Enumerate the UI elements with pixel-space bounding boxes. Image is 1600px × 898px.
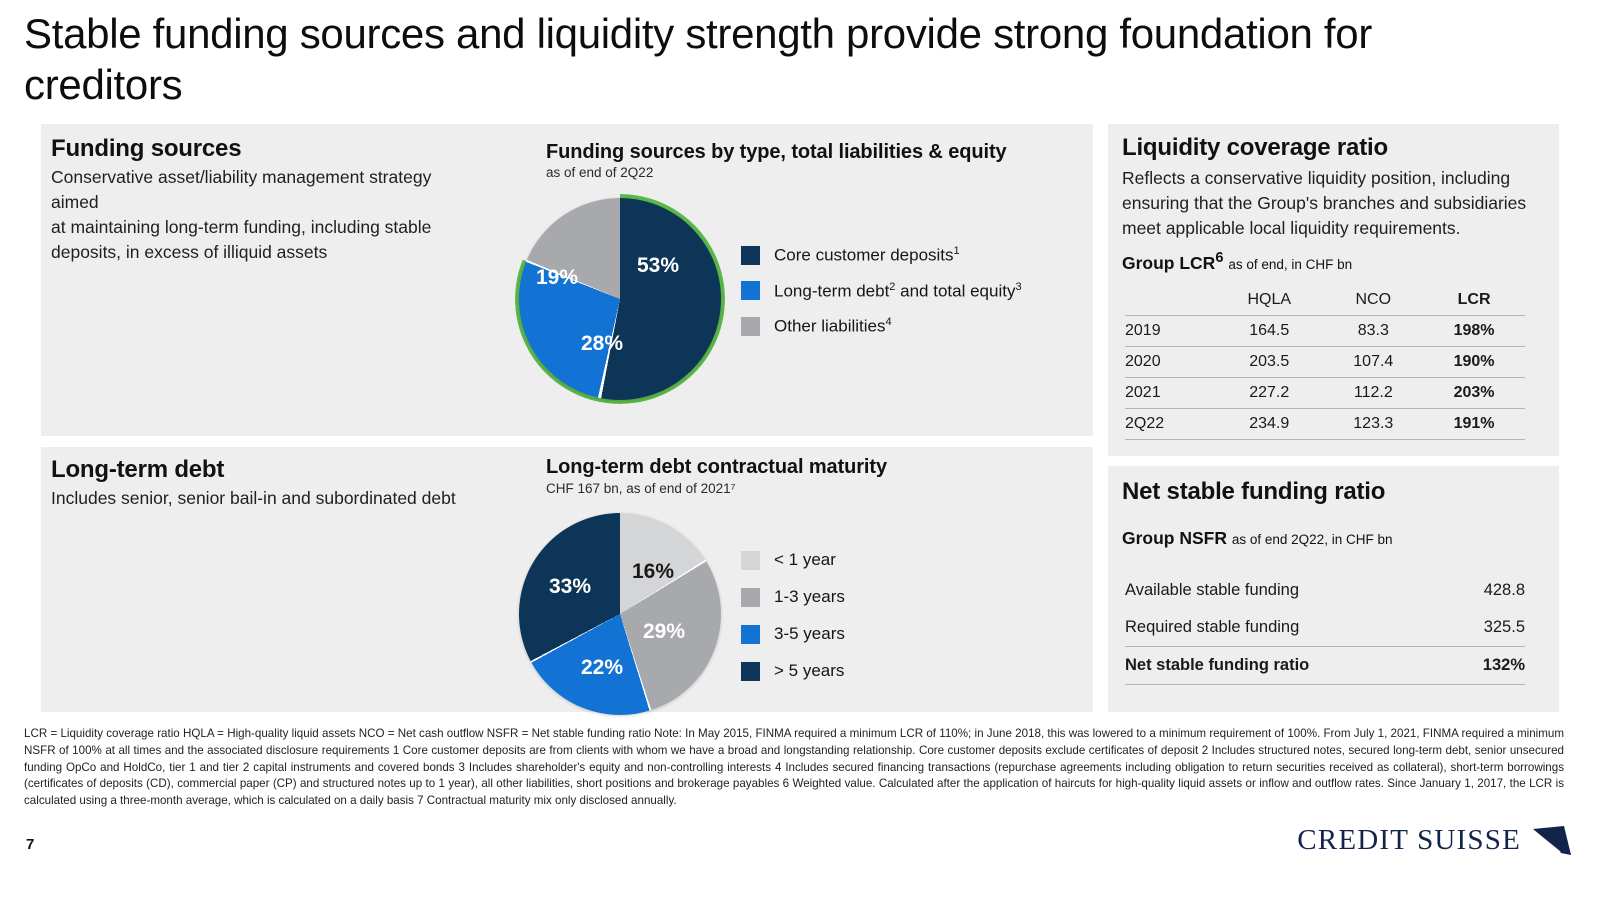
long-term-debt-maturity-pie-chart: 16% 29% 22% 33% [519,513,721,715]
cell-lcr: 203% [1423,378,1525,409]
slide: Stable funding sources and liquidity str… [0,0,1600,898]
legend-item: < 1 year [741,550,845,570]
maturity-chart-subtitle: CHF 167 bn, as of end of 2021⁷ [546,481,736,496]
legend-label-long-term-debt: Long-term debt2 and total equity3 [774,281,1022,302]
funding-chart-title: Funding sources by type, total liabiliti… [546,141,1007,164]
nsfr-value: 132% [1455,656,1525,675]
page-number: 7 [26,836,34,853]
nsfr-row-required: Required stable funding 325.5 [1125,609,1525,646]
cell-nco: 123.3 [1323,409,1423,440]
pie-slice-label-long-term-debt: 28% [581,332,623,356]
nsfr-value: 325.5 [1455,618,1525,637]
legend-item: 3-5 years [741,624,845,644]
cell-year: 2019 [1125,316,1215,347]
nsfr-value: 428.8 [1455,581,1525,600]
nsfr-label: Net stable funding ratio [1125,656,1309,675]
cell-nco: 83.3 [1323,316,1423,347]
legend-swatch-blue [741,625,760,644]
nsfr-caption: Group NSFR as of end 2Q22, in CHF bn [1122,528,1392,549]
cell-hqla: 164.5 [1215,316,1323,347]
long-term-debt-description: Includes senior, senior bail-in and subo… [51,486,471,511]
cell-lcr: 198% [1423,316,1525,347]
legend-item: Core customer deposits1 [741,245,1022,266]
lcr-caption-footnote-marker: 6 [1215,250,1223,266]
legend-label-other-liabilities: Other liabilities4 [774,316,892,337]
cell-lcr: 190% [1423,347,1525,378]
table-row: 2021 227.2 112.2 203% [1125,378,1525,409]
cell-year: 2Q22 [1125,409,1215,440]
nsfr-rows: Available stable funding 428.8 Required … [1125,572,1525,685]
lcr-caption-bold: Group LCR [1122,253,1215,273]
nsfr-label: Available stable funding [1125,581,1299,600]
funding-chart-legend: Core customer deposits1 Long-term debt2 … [741,245,1022,352]
pie-slice-label-under-1-year: 16% [632,560,674,584]
long-term-debt-heading: Long-term debt [51,456,224,484]
maturity-chart-legend: < 1 year 1-3 years 3-5 years > 5 years [741,550,845,698]
legend-swatch-blue [741,281,760,300]
nsfr-caption-light: as of end 2Q22, in CHF bn [1232,532,1393,547]
table-row: 2Q22 234.9 123.3 191% [1125,409,1525,440]
legend-item: Other liabilities4 [741,316,1022,337]
pie-slice-label-other-liabilities: 19% [536,266,578,290]
page-title: Stable funding sources and liquidity str… [24,8,1454,110]
maturity-chart-title: Long-term debt contractual maturity [546,456,887,479]
cell-year: 2021 [1125,378,1215,409]
funding-sources-heading: Funding sources [51,135,241,163]
lcr-caption-light: as of end, in CHF bn [1228,257,1352,272]
pie-slice-label-3-5-years: 22% [581,656,623,680]
legend-item: 1-3 years [741,587,845,607]
legend-label-over-5-years: > 5 years [774,661,844,681]
pie-slices [519,513,721,715]
cell-lcr: 191% [1423,409,1525,440]
col-header-lcr: LCR [1423,285,1525,316]
col-header-nco: NCO [1323,285,1423,316]
legend-swatch-navy [741,662,760,681]
lcr-table: HQLA NCO LCR 2019 164.5 83.3 198% 2020 2… [1125,285,1525,440]
logo-wordmark: CREDIT SUISSE [1297,824,1521,857]
nsfr-caption-bold: Group NSFR [1122,528,1227,548]
cell-hqla: 234.9 [1215,409,1323,440]
nsfr-label: Required stable funding [1125,618,1299,637]
legend-swatch-navy [741,246,760,265]
legend-swatch-gray [741,317,760,336]
legend-label-1-3-years: 1-3 years [774,587,845,607]
pie-slice-label-1-3-years: 29% [643,620,685,644]
cell-hqla: 227.2 [1215,378,1323,409]
sail-logo-icon [1530,825,1574,857]
nsfr-row-total: Net stable funding ratio 132% [1125,646,1525,685]
pie-slice-label-core-deposits: 53% [637,254,679,278]
lcr-heading: Liquidity coverage ratio [1122,134,1388,162]
funding-chart-subtitle: as of end of 2Q22 [546,165,653,180]
funding-sources-description: Conservative asset/liability management … [51,165,471,264]
footnotes: LCR = Liquidity coverage ratio HQLA = Hi… [24,726,1564,810]
table-row: 2020 203.5 107.4 190% [1125,347,1525,378]
legend-item: Long-term debt2 and total equity3 [741,281,1022,302]
legend-item: > 5 years [741,661,845,681]
cell-hqla: 203.5 [1215,347,1323,378]
col-header-hqla: HQLA [1215,285,1323,316]
lcr-table-caption: Group LCR6 as of end, in CHF bn [1122,250,1352,274]
legend-swatch-light-gray [741,551,760,570]
table-header-row: HQLA NCO LCR [1125,285,1525,316]
funding-sources-pie-chart: 53% 28% 19% [519,198,721,400]
legend-swatch-gray [741,588,760,607]
legend-label-core-deposits: Core customer deposits1 [774,245,960,266]
col-header-year [1125,285,1215,316]
nsfr-row-available: Available stable funding 428.8 [1125,572,1525,609]
pie-slices [519,198,721,400]
pie-slice-label-over-5-years: 33% [549,575,591,599]
cell-nco: 112.2 [1323,378,1423,409]
credit-suisse-logo: CREDIT SUISSE [1297,824,1574,857]
lcr-description: Reflects a conservative liquidity positi… [1122,166,1530,241]
legend-label-3-5-years: 3-5 years [774,624,845,644]
cell-nco: 107.4 [1323,347,1423,378]
table-row: 2019 164.5 83.3 198% [1125,316,1525,347]
nsfr-heading: Net stable funding ratio [1122,478,1385,506]
cell-year: 2020 [1125,347,1215,378]
legend-label-under-1-year: < 1 year [774,550,836,570]
